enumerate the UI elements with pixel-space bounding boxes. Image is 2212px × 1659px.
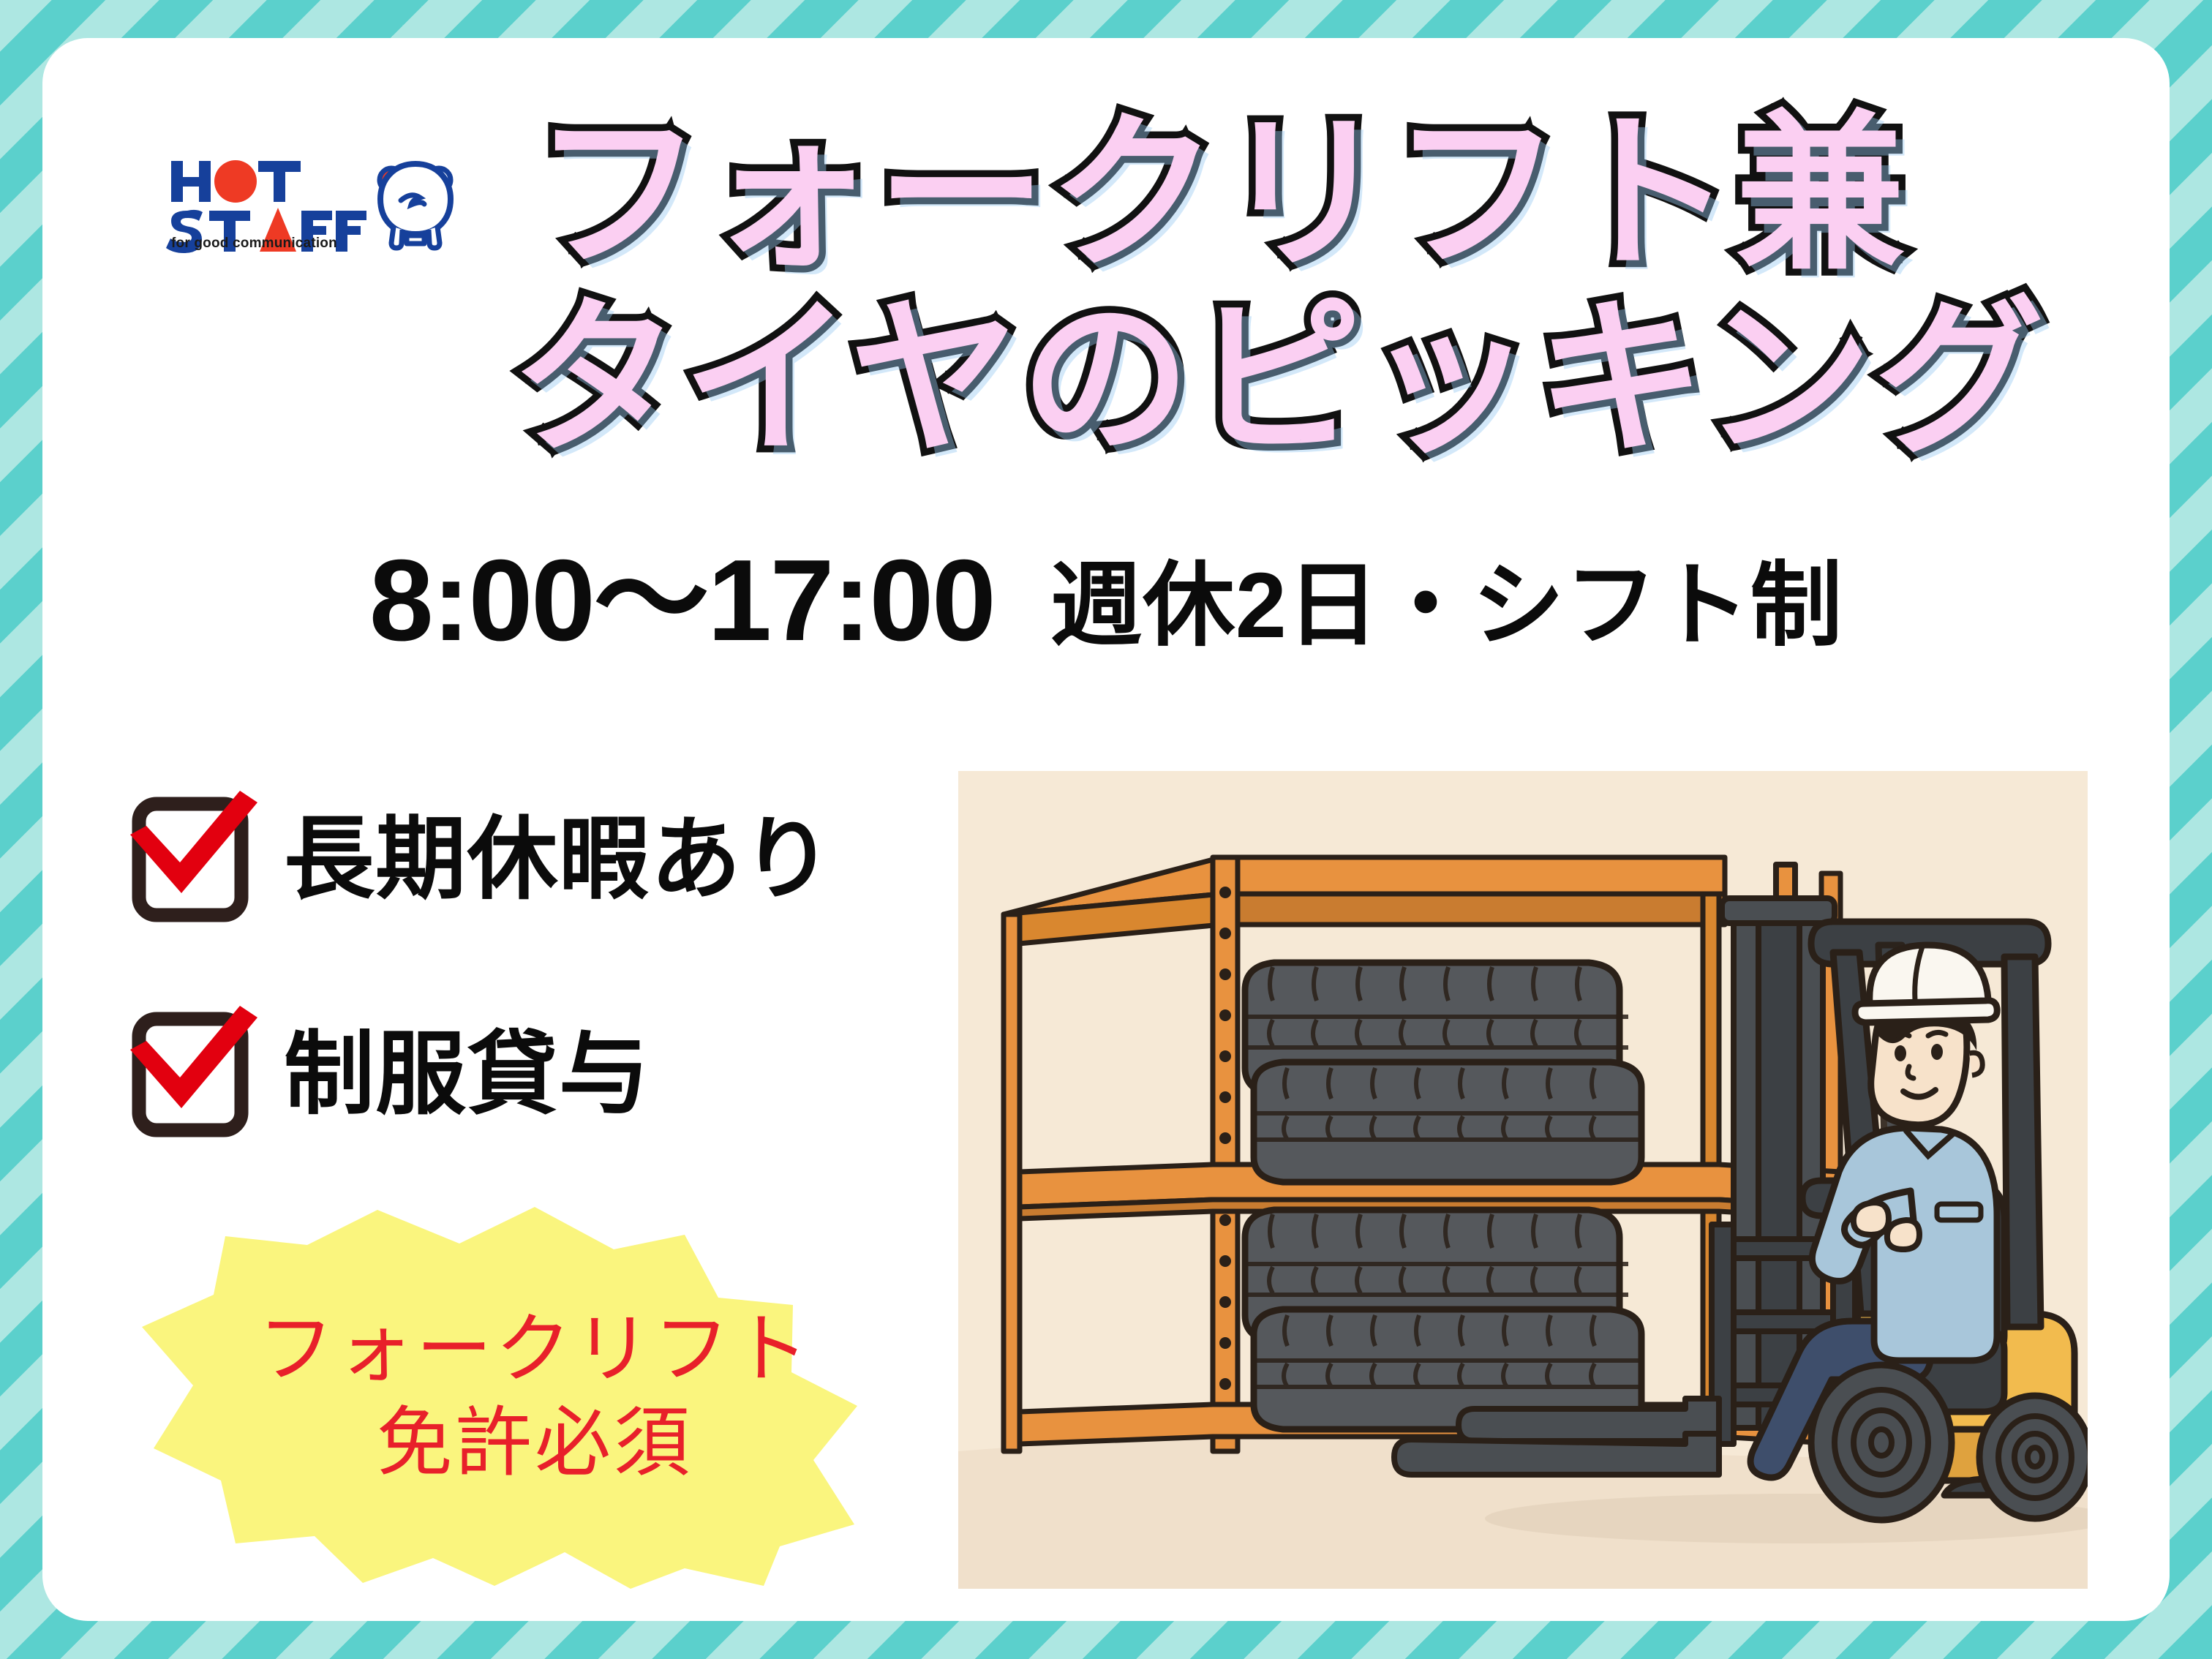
hot-staff-logo: t for good communication xyxy=(165,154,458,256)
benefits-list: 長期休暇あり 制服貸与 xyxy=(129,784,963,1214)
benefit-label: 制服貸与 xyxy=(284,1029,650,1120)
tire-stack-upper xyxy=(1245,963,1641,1182)
forklift-front-wheel xyxy=(1811,1365,1952,1520)
job-advertisement-poster: t for good communication xyxy=(0,0,2212,1659)
white-content-card: t for good communication xyxy=(42,38,2170,1621)
badge-line-1: フォークリフト xyxy=(257,1307,811,1392)
bear-mascot-icon xyxy=(379,164,451,248)
work-hours: 8:00〜17:00 xyxy=(369,543,995,658)
badge-text-block: フォークリフト 免許必須 xyxy=(129,1203,941,1590)
schedule-row: 8:00〜17:00 週休2日・シフト制 xyxy=(42,543,2170,658)
list-item: 長期休暇あり xyxy=(129,784,963,935)
tire-stack-lower xyxy=(1245,1210,1641,1429)
page-title-line-2: タイヤのピッキング xyxy=(511,293,1930,467)
list-item: 制服貸与 xyxy=(129,999,963,1150)
license-required-badge: フォークリフト 免許必須 xyxy=(129,1203,941,1590)
logo-tagline: for good communication xyxy=(171,236,337,252)
forklift-rear-wheel xyxy=(1979,1396,2088,1519)
forklift-warehouse-illustration xyxy=(958,771,2088,1589)
days-off: 週休2日・シフト制 xyxy=(1050,560,1843,658)
checkbox-checked-icon xyxy=(129,1010,257,1139)
benefit-label: 長期休暇あり xyxy=(284,814,833,905)
badge-line-2: 免許必須 xyxy=(377,1401,693,1486)
checkbox-checked-icon xyxy=(129,795,257,924)
page-title: フォークリフト兼 タイヤのピッキング xyxy=(511,108,1930,466)
page-title-line-1: フォークリフト兼 xyxy=(511,108,1930,282)
